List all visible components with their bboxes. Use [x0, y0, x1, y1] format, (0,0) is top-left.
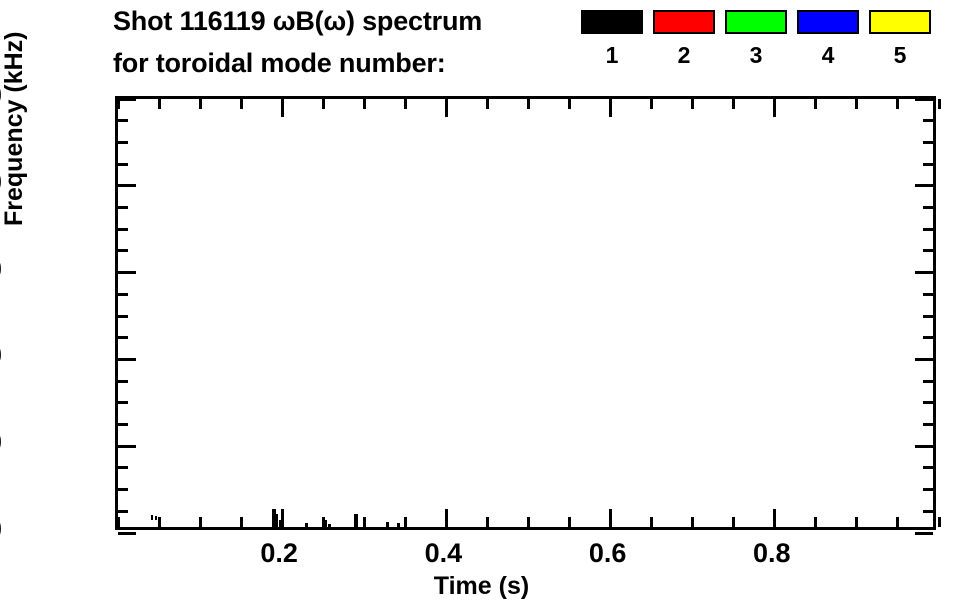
legend-entry-1: 1 — [581, 10, 643, 67]
spectrogram-mark — [305, 523, 307, 527]
y-axis-tick — [923, 380, 933, 383]
y-axis-tick — [118, 293, 128, 296]
legend-entry-5: 5 — [869, 10, 931, 67]
plot-data-region — [118, 99, 933, 527]
y-axis-tick — [923, 315, 933, 318]
spectrogram-mark — [155, 516, 157, 520]
y-axis-tick — [118, 401, 128, 404]
y-axis-tick — [915, 445, 933, 448]
y-axis-tick — [915, 98, 933, 101]
spectrogram-mark — [386, 522, 389, 527]
spectrogram-mark — [276, 514, 278, 527]
x-axis-tick — [486, 517, 489, 527]
y-axis-tick — [915, 358, 933, 361]
legend: 12345 — [575, 10, 963, 90]
y-axis-tick — [118, 380, 128, 383]
y-axis-tick — [923, 141, 933, 144]
x-axis-tick — [199, 99, 202, 109]
spectrogram-mark — [397, 523, 399, 527]
x-axis-tick — [445, 509, 448, 527]
y-axis-tick — [118, 423, 128, 426]
y-axis-tick — [923, 336, 933, 339]
x-axis-tick — [158, 99, 161, 109]
x-axis-title: Time (s) — [0, 572, 963, 601]
x-axis-tick — [568, 517, 571, 527]
x-axis-tick — [199, 517, 202, 527]
x-axis-tick — [609, 99, 612, 117]
y-axis-tick — [923, 423, 933, 426]
y-axis-tick — [923, 401, 933, 404]
spectrogram-mark — [151, 515, 153, 520]
y-axis-tick — [118, 98, 136, 101]
x-axis-tick — [855, 517, 858, 527]
y-axis-tick — [118, 184, 136, 187]
y-axis-tick — [118, 336, 128, 339]
x-axis-tick — [814, 517, 817, 527]
y-axis-tick — [118, 206, 128, 209]
y-axis-tick-label: 40 — [0, 342, 2, 369]
spectrogram-mark — [354, 514, 357, 527]
x-axis-tick — [814, 99, 817, 109]
y-axis-tick — [118, 532, 136, 535]
spectrogram-mark — [328, 524, 330, 527]
y-axis-tick — [923, 249, 933, 252]
y-axis-tick — [923, 466, 933, 469]
x-axis-tick — [404, 517, 407, 527]
legend-label-3: 3 — [725, 44, 787, 67]
y-axis-tick-label: 0 — [0, 516, 2, 543]
legend-label-2: 2 — [653, 44, 715, 67]
chart-title-line-2: for toroidal mode number: — [113, 48, 446, 79]
y-axis-tick — [923, 119, 933, 122]
x-axis-tick-label: 0.2 — [239, 540, 319, 567]
chart-title-line-1: Shot 116119 ωB(ω) spectrum — [113, 6, 482, 37]
x-axis-tick — [896, 517, 899, 527]
y-axis-tick — [118, 163, 128, 166]
x-axis-tick — [732, 99, 735, 109]
legend-swatch-4 — [797, 10, 859, 34]
y-axis-tick — [923, 510, 933, 513]
x-axis-tick — [240, 517, 243, 527]
x-axis-tick — [691, 99, 694, 109]
legend-swatch-2 — [653, 10, 715, 34]
x-axis-tick — [938, 517, 941, 527]
y-axis-tick — [915, 271, 933, 274]
x-axis-tick — [363, 99, 366, 109]
y-axis-tick-label: 60 — [0, 256, 2, 283]
legend-entry-2: 2 — [653, 10, 715, 67]
legend-label-1: 1 — [581, 44, 643, 67]
y-axis-tick — [923, 228, 933, 231]
y-axis-tick — [923, 293, 933, 296]
y-axis-tick — [923, 206, 933, 209]
x-axis-tick — [691, 517, 694, 527]
y-axis-tick — [923, 488, 933, 491]
legend-swatch-1 — [581, 10, 643, 34]
x-axis-tick-label: 0.6 — [568, 540, 648, 567]
x-axis-tick — [773, 509, 776, 527]
legend-swatch-3 — [725, 10, 787, 34]
x-axis-tick — [322, 517, 325, 527]
x-axis-tick — [117, 99, 120, 109]
x-axis-tick — [732, 517, 735, 527]
x-axis-tick — [896, 99, 899, 109]
x-axis-tick — [650, 99, 653, 109]
x-axis-tick — [363, 517, 366, 527]
y-axis-tick — [118, 315, 128, 318]
y-axis-tick — [118, 228, 128, 231]
legend-swatch-5 — [869, 10, 931, 34]
legend-label-4: 4 — [797, 44, 859, 67]
x-axis-tick — [527, 517, 530, 527]
x-axis-tick-label: 0.8 — [732, 540, 812, 567]
y-axis-title: Frequency (kHz) — [0, 196, 29, 226]
y-axis-tick — [118, 488, 128, 491]
y-axis-tick-label: 80 — [0, 169, 2, 196]
x-axis-tick — [855, 99, 858, 109]
x-axis-tick — [568, 99, 571, 109]
x-axis-tick — [938, 99, 941, 109]
legend-label-5: 5 — [869, 44, 931, 67]
y-axis-tick — [118, 445, 136, 448]
x-axis-tick — [773, 99, 776, 117]
x-axis-tick — [117, 517, 120, 527]
y-axis-tick — [118, 466, 128, 469]
x-axis-tick — [281, 509, 284, 527]
y-axis-tick — [923, 163, 933, 166]
x-axis-tick — [650, 517, 653, 527]
x-axis-tick — [240, 99, 243, 109]
y-axis-tick — [118, 271, 136, 274]
y-axis-tick — [118, 249, 128, 252]
legend-entry-3: 3 — [725, 10, 787, 67]
x-axis-tick — [486, 99, 489, 109]
x-axis-tick — [609, 509, 612, 527]
x-axis-tick — [404, 99, 407, 109]
y-axis-tick-label: 100 — [0, 82, 2, 109]
y-axis-tick — [118, 119, 128, 122]
y-axis-tick — [915, 184, 933, 187]
x-axis-tick — [322, 99, 325, 109]
y-axis-tick — [915, 532, 933, 535]
x-axis-tick — [281, 99, 284, 117]
x-axis-tick — [445, 99, 448, 117]
x-axis-tick-label: 0.4 — [403, 540, 483, 567]
y-axis-tick — [118, 510, 128, 513]
y-axis-tick — [118, 358, 136, 361]
x-axis-tick — [527, 99, 530, 109]
y-axis-tick — [118, 141, 128, 144]
y-axis-tick-label: 20 — [0, 429, 2, 456]
legend-entry-4: 4 — [797, 10, 859, 67]
x-axis-tick — [158, 517, 161, 527]
plot-frame — [115, 96, 936, 530]
